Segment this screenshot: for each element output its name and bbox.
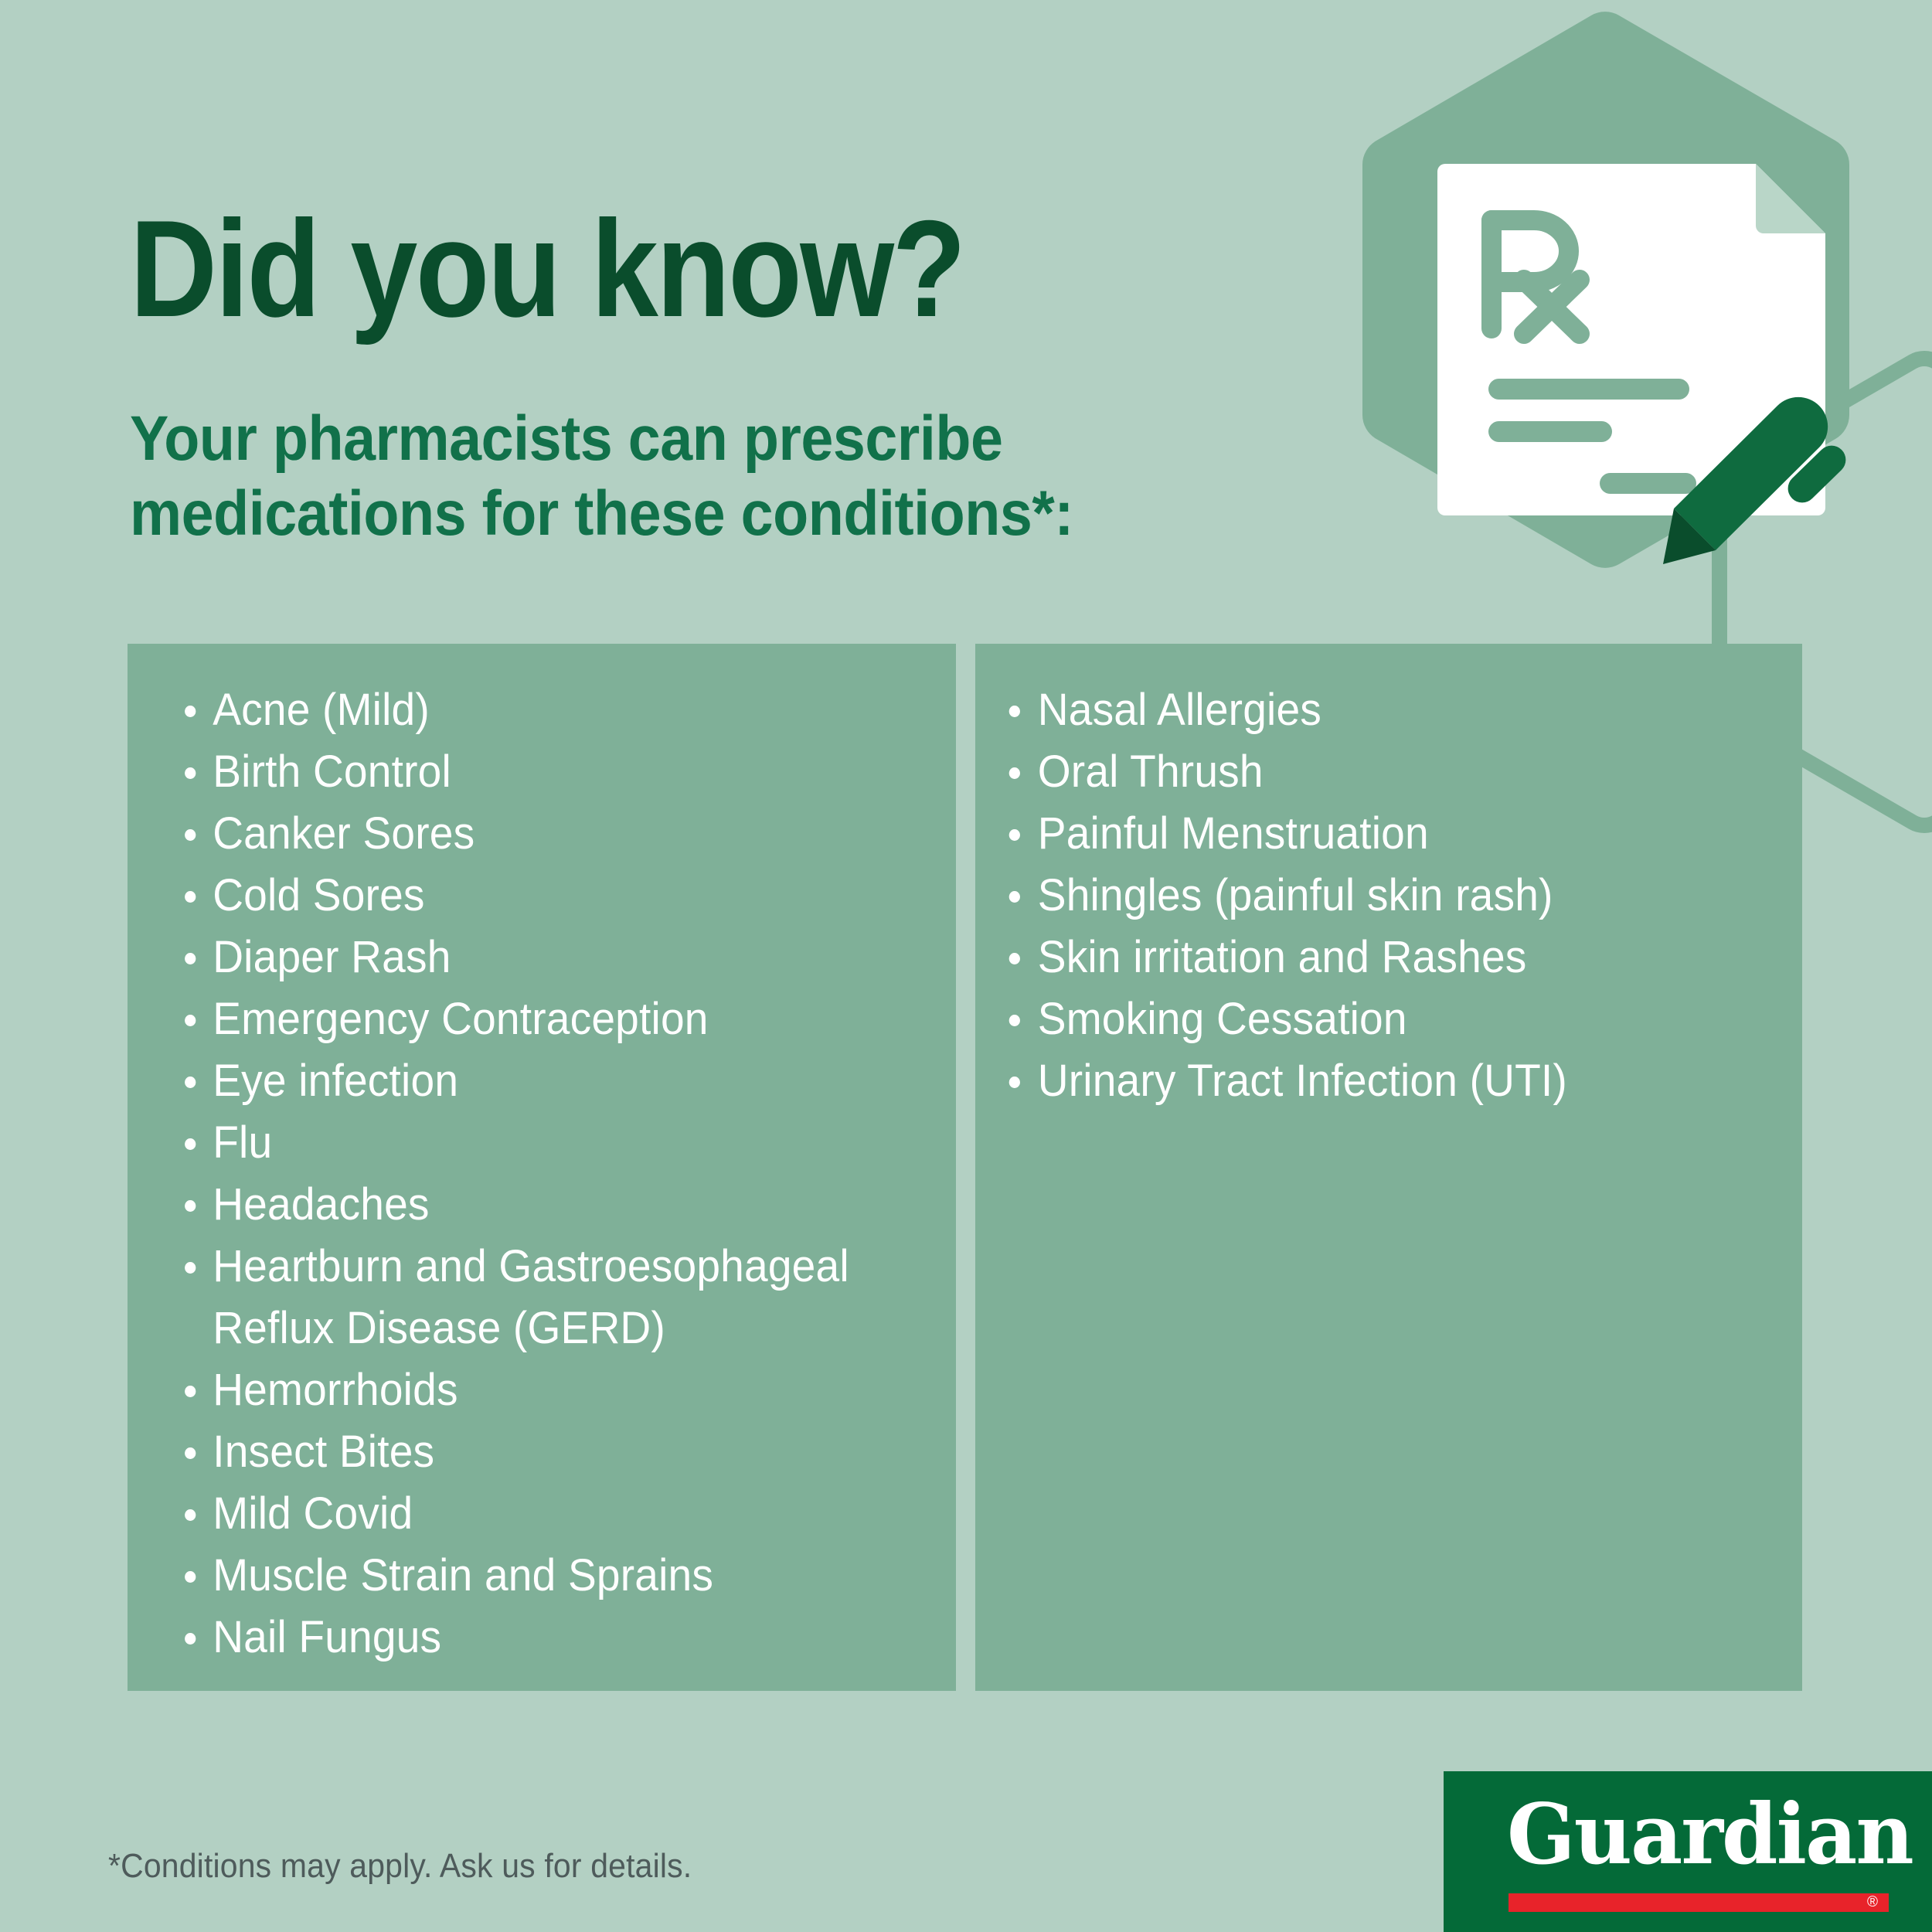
list-item-label: Birth Control — [213, 741, 893, 803]
page-subtitle-line-2: medications for these conditions*: — [130, 477, 1267, 552]
guardian-wordmark: Guardian — [1507, 1793, 1913, 1876]
list-item: Urinary Tract Infection (UTI) — [975, 1050, 1739, 1112]
document-line-3 — [1600, 473, 1696, 494]
bullet-icon — [1009, 1015, 1020, 1026]
list-item-label: Urinary Tract Infection (UTI) — [1038, 1050, 1739, 1112]
list-item-label: Eye infection — [213, 1050, 893, 1112]
list-item: Cold Sores — [128, 865, 893, 927]
list-item: Skin irritation and Rashes — [975, 927, 1739, 988]
list-item-label: Cold Sores — [213, 865, 893, 927]
bullet-icon — [185, 1447, 196, 1459]
prescription-document-icon — [1437, 164, 1825, 515]
list-item-label: Nasal Allergies — [1038, 679, 1739, 741]
list-item-label: Insect Bites — [213, 1421, 893, 1483]
list-item-label: Diaper Rash — [213, 927, 893, 988]
list-item: Nasal Allergies — [975, 679, 1739, 741]
bullet-icon — [185, 1509, 196, 1521]
hexagon-shape-filled — [1362, 12, 1849, 568]
bullet-icon — [1009, 829, 1020, 841]
guardian-logo-block: Guardian ® — [1444, 1771, 1932, 1932]
list-item-label: Flu — [213, 1112, 893, 1174]
bullet-icon — [1009, 767, 1020, 779]
list-item: Acne (Mild) — [128, 679, 893, 741]
list-item: Emergency Contraception — [128, 988, 893, 1050]
list-item: Shingles (painful skin rash) — [975, 865, 1739, 927]
list-item: Painful Menstruation — [975, 803, 1739, 865]
bullet-icon — [185, 706, 196, 717]
bullet-icon — [1009, 1077, 1020, 1088]
pen-icon — [1663, 397, 1845, 564]
bullet-icon — [1009, 953, 1020, 964]
list-item-label: Muscle Strain and Sprains — [213, 1545, 893, 1607]
list-item-label: Emergency Contraception — [213, 988, 893, 1050]
list-item: Diaper Rash — [128, 927, 893, 988]
bullet-icon — [1009, 891, 1020, 903]
list-item-label: Nail Fungus — [213, 1607, 893, 1668]
page-title: Did you know? — [130, 200, 1150, 338]
list-item-label: Canker Sores — [213, 803, 893, 865]
list-item: Heartburn and Gastroesophageal Reflux Di… — [128, 1236, 893, 1359]
list-item: Eye infection — [128, 1050, 893, 1112]
list-item: Birth Control — [128, 741, 893, 803]
bullet-icon — [185, 1633, 196, 1645]
bullet-icon — [185, 1138, 196, 1150]
bullet-icon — [185, 1200, 196, 1212]
list-item: Nail Fungus — [128, 1607, 893, 1668]
logo-red-bar — [1509, 1893, 1889, 1912]
bullet-icon — [185, 1386, 196, 1397]
list-item-label: Mild Covid — [213, 1483, 893, 1545]
infographic-poster: Did you know? Your pharmacists can presc… — [0, 0, 1932, 1932]
conditions-panel-left: Acne (Mild)Birth ControlCanker SoresCold… — [128, 644, 956, 1691]
conditions-panel-right: Nasal AllergiesOral ThrushPainful Menstr… — [975, 644, 1802, 1691]
bullet-icon — [185, 1077, 196, 1088]
list-item-label: Smoking Cessation — [1038, 988, 1739, 1050]
conditions-list-right: Nasal AllergiesOral ThrushPainful Menstr… — [975, 679, 1779, 1112]
bullet-icon — [185, 1571, 196, 1583]
document-line-1 — [1488, 379, 1689, 400]
bullet-icon — [185, 1015, 196, 1026]
bullet-icon — [185, 891, 196, 903]
conditions-panels: Acne (Mild)Birth ControlCanker SoresCold… — [128, 644, 1802, 1691]
list-item-label: Heartburn and Gastroesophageal Reflux Di… — [213, 1236, 893, 1359]
list-item-label: Hemorrhoids — [213, 1359, 893, 1421]
list-item: Hemorrhoids — [128, 1359, 893, 1421]
list-item: Headaches — [128, 1174, 893, 1236]
list-item-label: Painful Menstruation — [1038, 803, 1739, 865]
list-item: Insect Bites — [128, 1421, 893, 1483]
list-item: Canker Sores — [128, 803, 893, 865]
bullet-icon — [185, 953, 196, 964]
bullet-icon — [185, 1262, 196, 1274]
list-item: Smoking Cessation — [975, 988, 1739, 1050]
list-item: Mild Covid — [128, 1483, 893, 1545]
bullet-icon — [1009, 706, 1020, 717]
footnote-disclaimer: *Conditions may apply. Ask us for detail… — [108, 1847, 692, 1886]
list-item-label: Skin irritation and Rashes — [1038, 927, 1739, 988]
registered-trademark-icon: ® — [1867, 1895, 1878, 1910]
list-item: Flu — [128, 1112, 893, 1174]
list-item: Muscle Strain and Sprains — [128, 1545, 893, 1607]
list-item-label: Oral Thrush — [1038, 741, 1739, 803]
page-subtitle-line-1: Your pharmacists can prescribe — [130, 403, 1002, 474]
bullet-icon — [185, 829, 196, 841]
list-item: Oral Thrush — [975, 741, 1739, 803]
list-item-label: Headaches — [213, 1174, 893, 1236]
list-item-label: Acne (Mild) — [213, 679, 893, 741]
conditions-list-left: Acne (Mild)Birth ControlCanker SoresCold… — [128, 679, 933, 1668]
rx-symbol-icon — [1492, 220, 1580, 334]
page-subtitle: Your pharmacists can prescribe medicatio… — [130, 402, 1267, 552]
bullet-icon — [185, 767, 196, 779]
document-line-2 — [1488, 421, 1612, 442]
list-item-label: Shingles (painful skin rash) — [1038, 865, 1739, 927]
